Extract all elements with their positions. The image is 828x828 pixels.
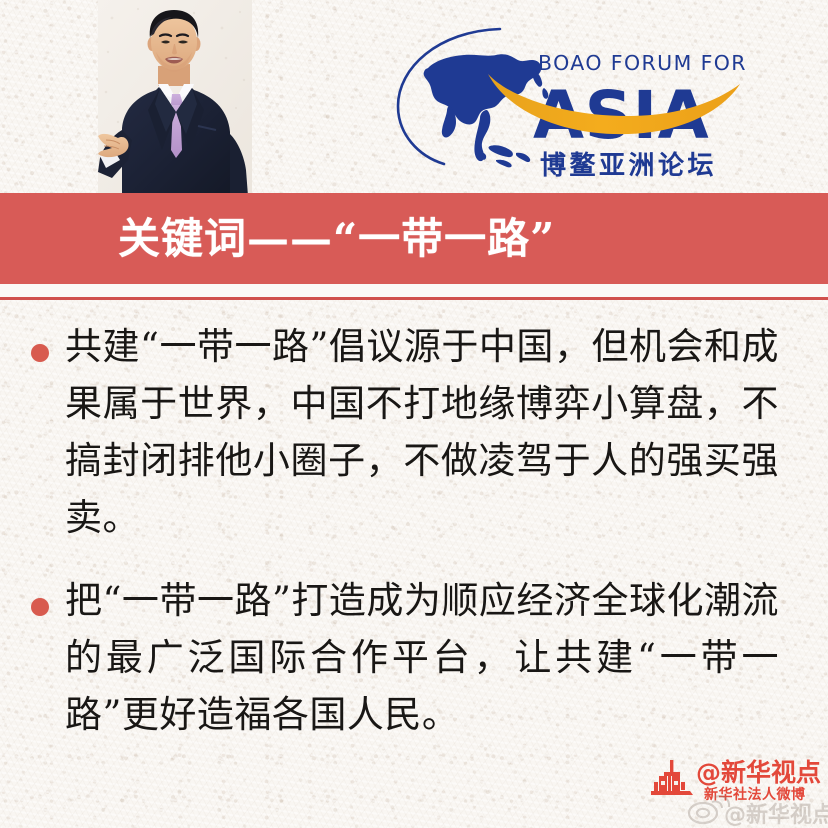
xinhua-watermark-graphic: @新华视点 新华社法人微博 @新华视点 xyxy=(648,745,828,828)
boao-logo-chinese: 博鳌亚洲论坛 xyxy=(540,151,717,181)
boao-forum-for-asia-logo: BOAO FORUM FOR ASIA 博鳌亚洲论坛 xyxy=(392,22,746,182)
banner-title: 关键词——“一带一路” xyxy=(118,218,555,260)
xinhua-handle: @新华视点 xyxy=(696,758,821,787)
bullet-dot-icon xyxy=(31,598,49,616)
bullet-list: 共建“一带一路”倡议源于中国，但机会和成果属于世界，中国不打地缘博弈小算盘，不搞… xyxy=(0,318,828,743)
xinhua-watermark: @新华视点 新华社法人微博 @新华视点 xyxy=(648,745,828,828)
bullet-dot-icon xyxy=(31,344,49,362)
boao-logo-tagline: BOAO FORUM FOR xyxy=(538,51,746,75)
list-item: 共建“一带一路”倡议源于中国，但机会和成果属于世界，中国不打地缘博弈小算盘，不搞… xyxy=(0,318,828,546)
weibo-handle: @新华视点 xyxy=(724,802,828,828)
speaker-portrait-image xyxy=(98,0,252,196)
poster-canvas: BOAO FORUM FOR ASIA 博鳌亚洲论坛 关键词——“一带一路” 共… xyxy=(0,0,828,828)
xinhua-subtitle: 新华社法人微博 xyxy=(704,786,806,803)
speaker-portrait xyxy=(98,0,252,196)
bullet-paragraph: 共建“一带一路”倡议源于中国，但机会和成果属于世界，中国不打地缘博弈小算盘，不搞… xyxy=(65,318,779,546)
banner-divider xyxy=(0,297,828,300)
banner-gap xyxy=(0,284,828,297)
keyword-banner: 关键词——“一带一路” xyxy=(0,193,828,284)
bullet-paragraph: 把“一带一路”打造成为顺应经济全球化潮流的最广泛国际合作平台，让共建“一带一路”… xyxy=(65,572,779,743)
boao-logo-graphic: BOAO FORUM FOR ASIA 博鳌亚洲论坛 xyxy=(392,22,746,182)
poster-header: BOAO FORUM FOR ASIA 博鳌亚洲论坛 xyxy=(0,0,828,196)
xinhua-mark-icon xyxy=(651,760,693,795)
list-item: 把“一带一路”打造成为顺应经济全球化潮流的最广泛国际合作平台，让共建“一带一路”… xyxy=(0,572,828,743)
